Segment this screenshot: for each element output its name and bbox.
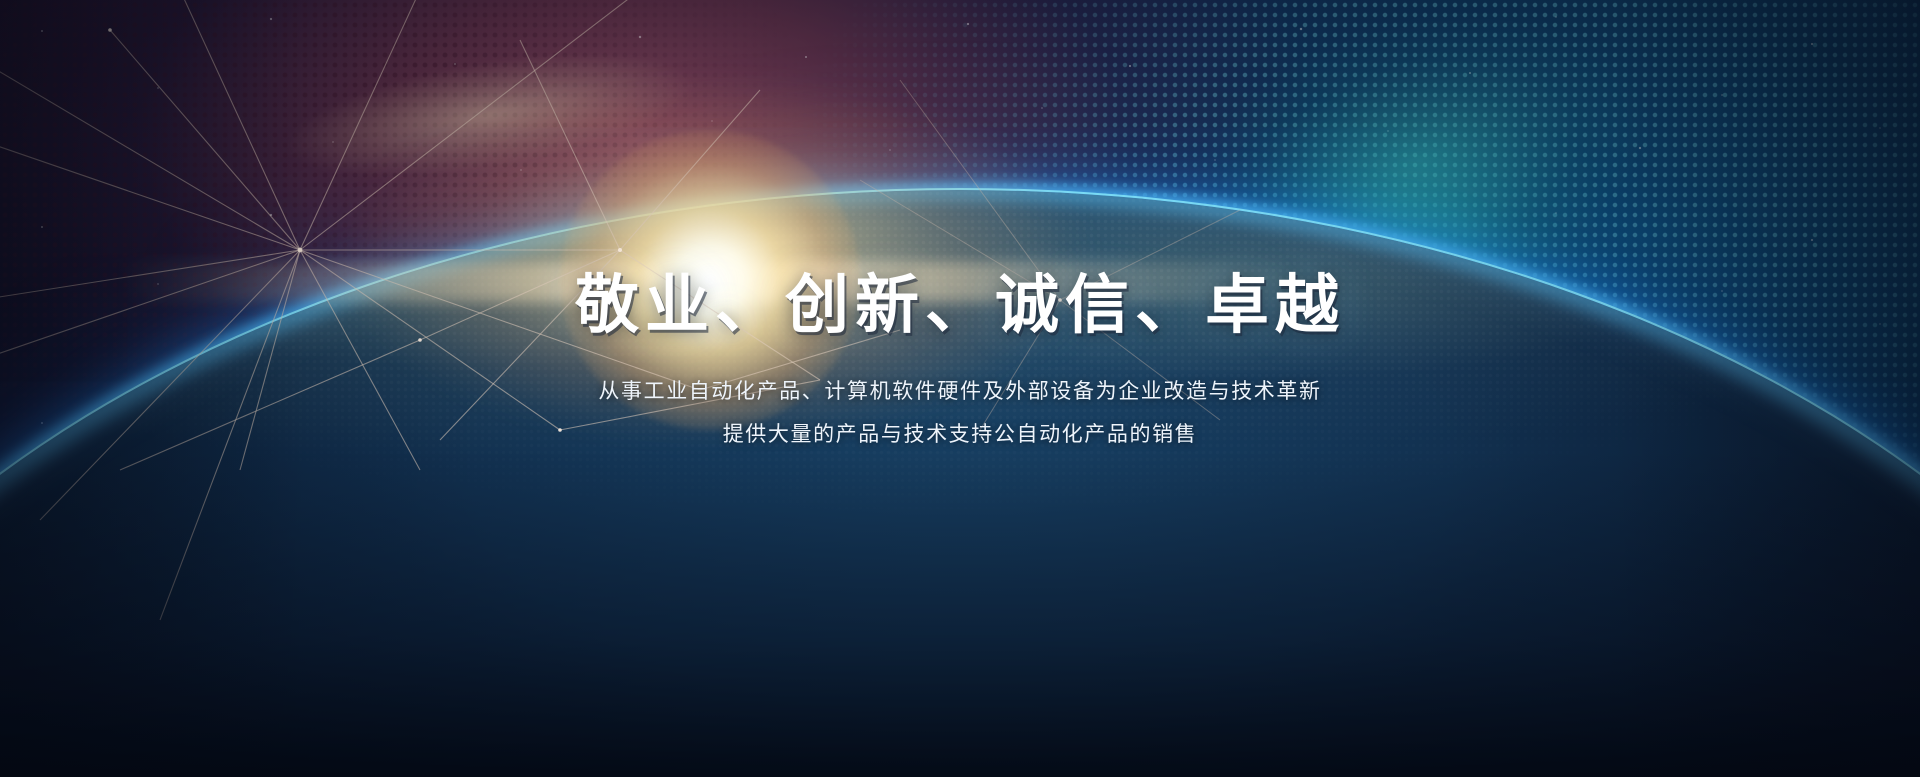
banner-headline: 敬业、创新、诚信、卓越 [0,268,1920,344]
banner-subtitle: 从事工业自动化产品、计算机软件硬件及外部设备为企业改造与技术革新 提供大量的产品… [0,370,1920,456]
banner-subtitle-line-1: 从事工业自动化产品、计算机软件硬件及外部设备为企业改造与技术革新 [0,370,1920,413]
hero-banner: 敬业、创新、诚信、卓越 从事工业自动化产品、计算机软件硬件及外部设备为企业改造与… [0,0,1920,777]
banner-content: 敬业、创新、诚信、卓越 从事工业自动化产品、计算机软件硬件及外部设备为企业改造与… [0,268,1920,456]
banner-subtitle-line-2: 提供大量的产品与技术支持公自动化产品的销售 [0,413,1920,456]
